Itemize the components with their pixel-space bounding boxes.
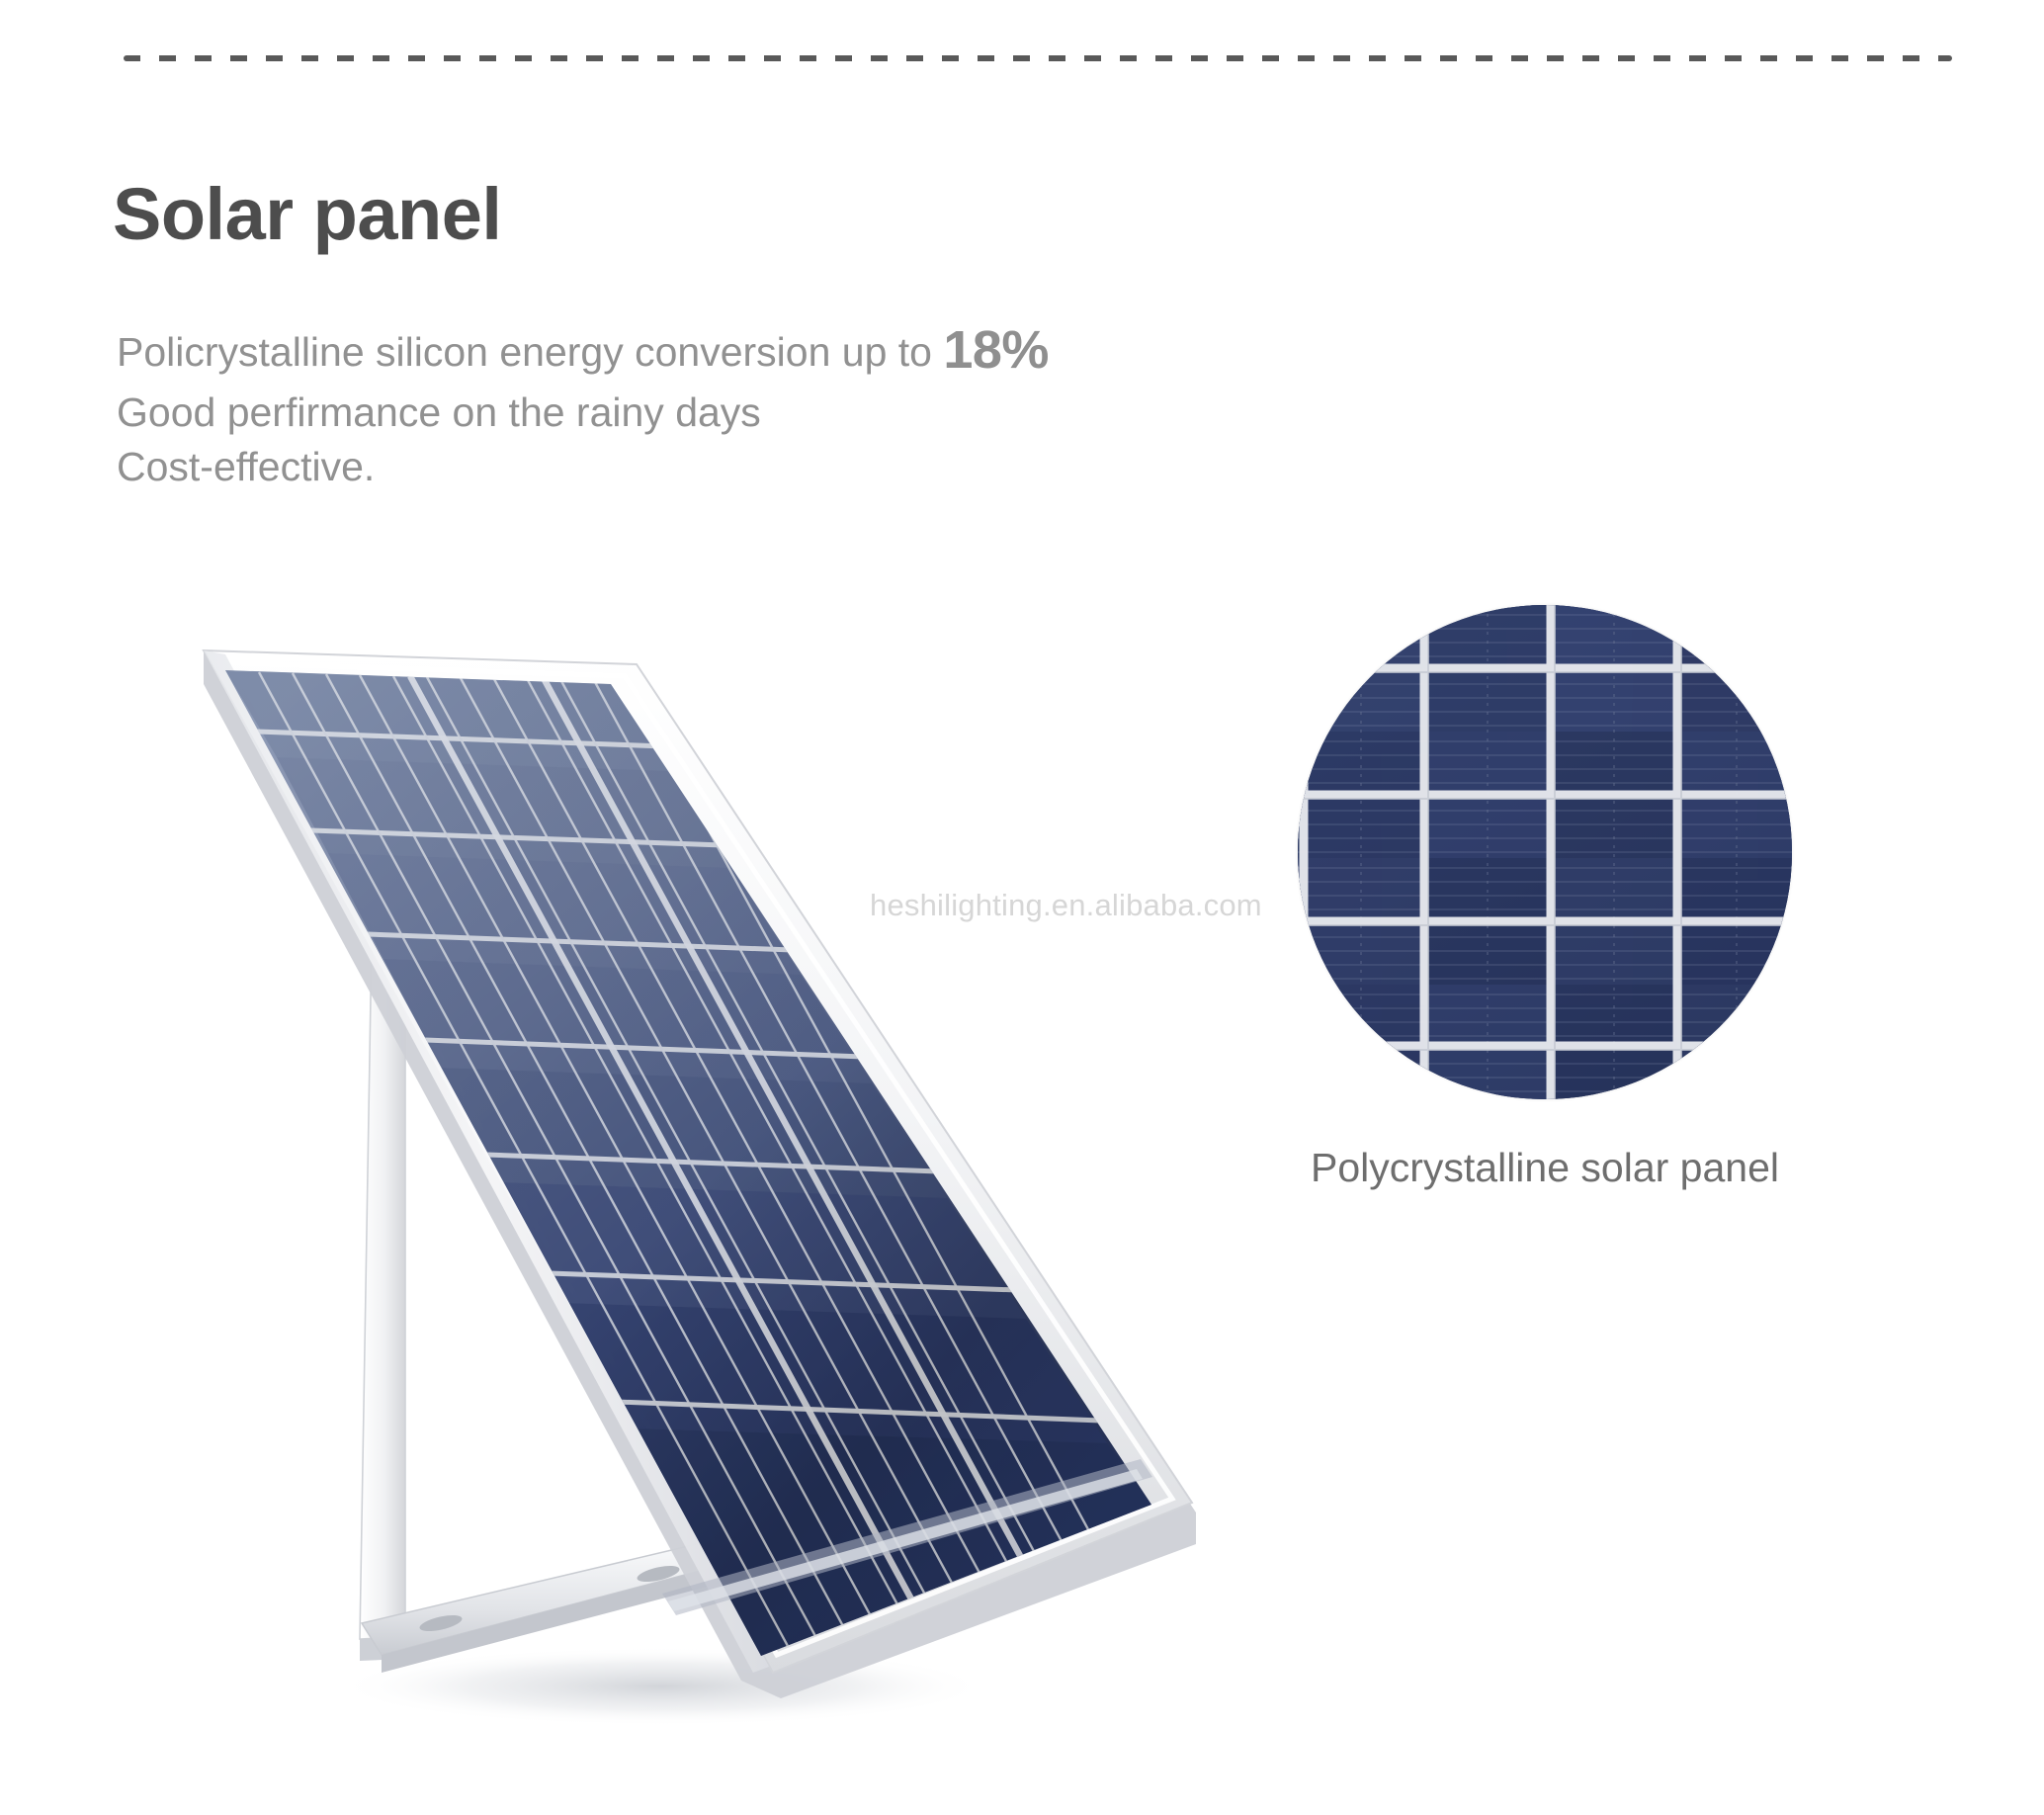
section-divider (124, 55, 1952, 61)
feature-line-2: Good perfirmance on the rainy days (117, 386, 1303, 440)
cell-closeup-illustration (1298, 605, 1792, 1099)
watermark: heshilighting.en.alibaba.com (870, 888, 1262, 923)
feature-list: Policrystalline silicon energy conversio… (117, 314, 1303, 494)
feature-line-1: Policrystalline silicon energy conversio… (117, 314, 1303, 386)
feature-line-1-text: Policrystalline silicon energy conversio… (117, 329, 943, 375)
product-photo (109, 593, 1255, 1760)
product-detail-page: Solar panel Policrystalline silicon ener… (0, 0, 2044, 1815)
efficiency-highlight: 18% (943, 320, 1049, 380)
page-title: Solar panel (113, 176, 501, 253)
solar-panel-illustration (109, 593, 1255, 1760)
feature-line-3: Cost-effective. (117, 440, 1303, 494)
inset-caption: Polycrystalline solar panel (1238, 1145, 1851, 1191)
cell-closeup-inset (1298, 605, 1792, 1099)
